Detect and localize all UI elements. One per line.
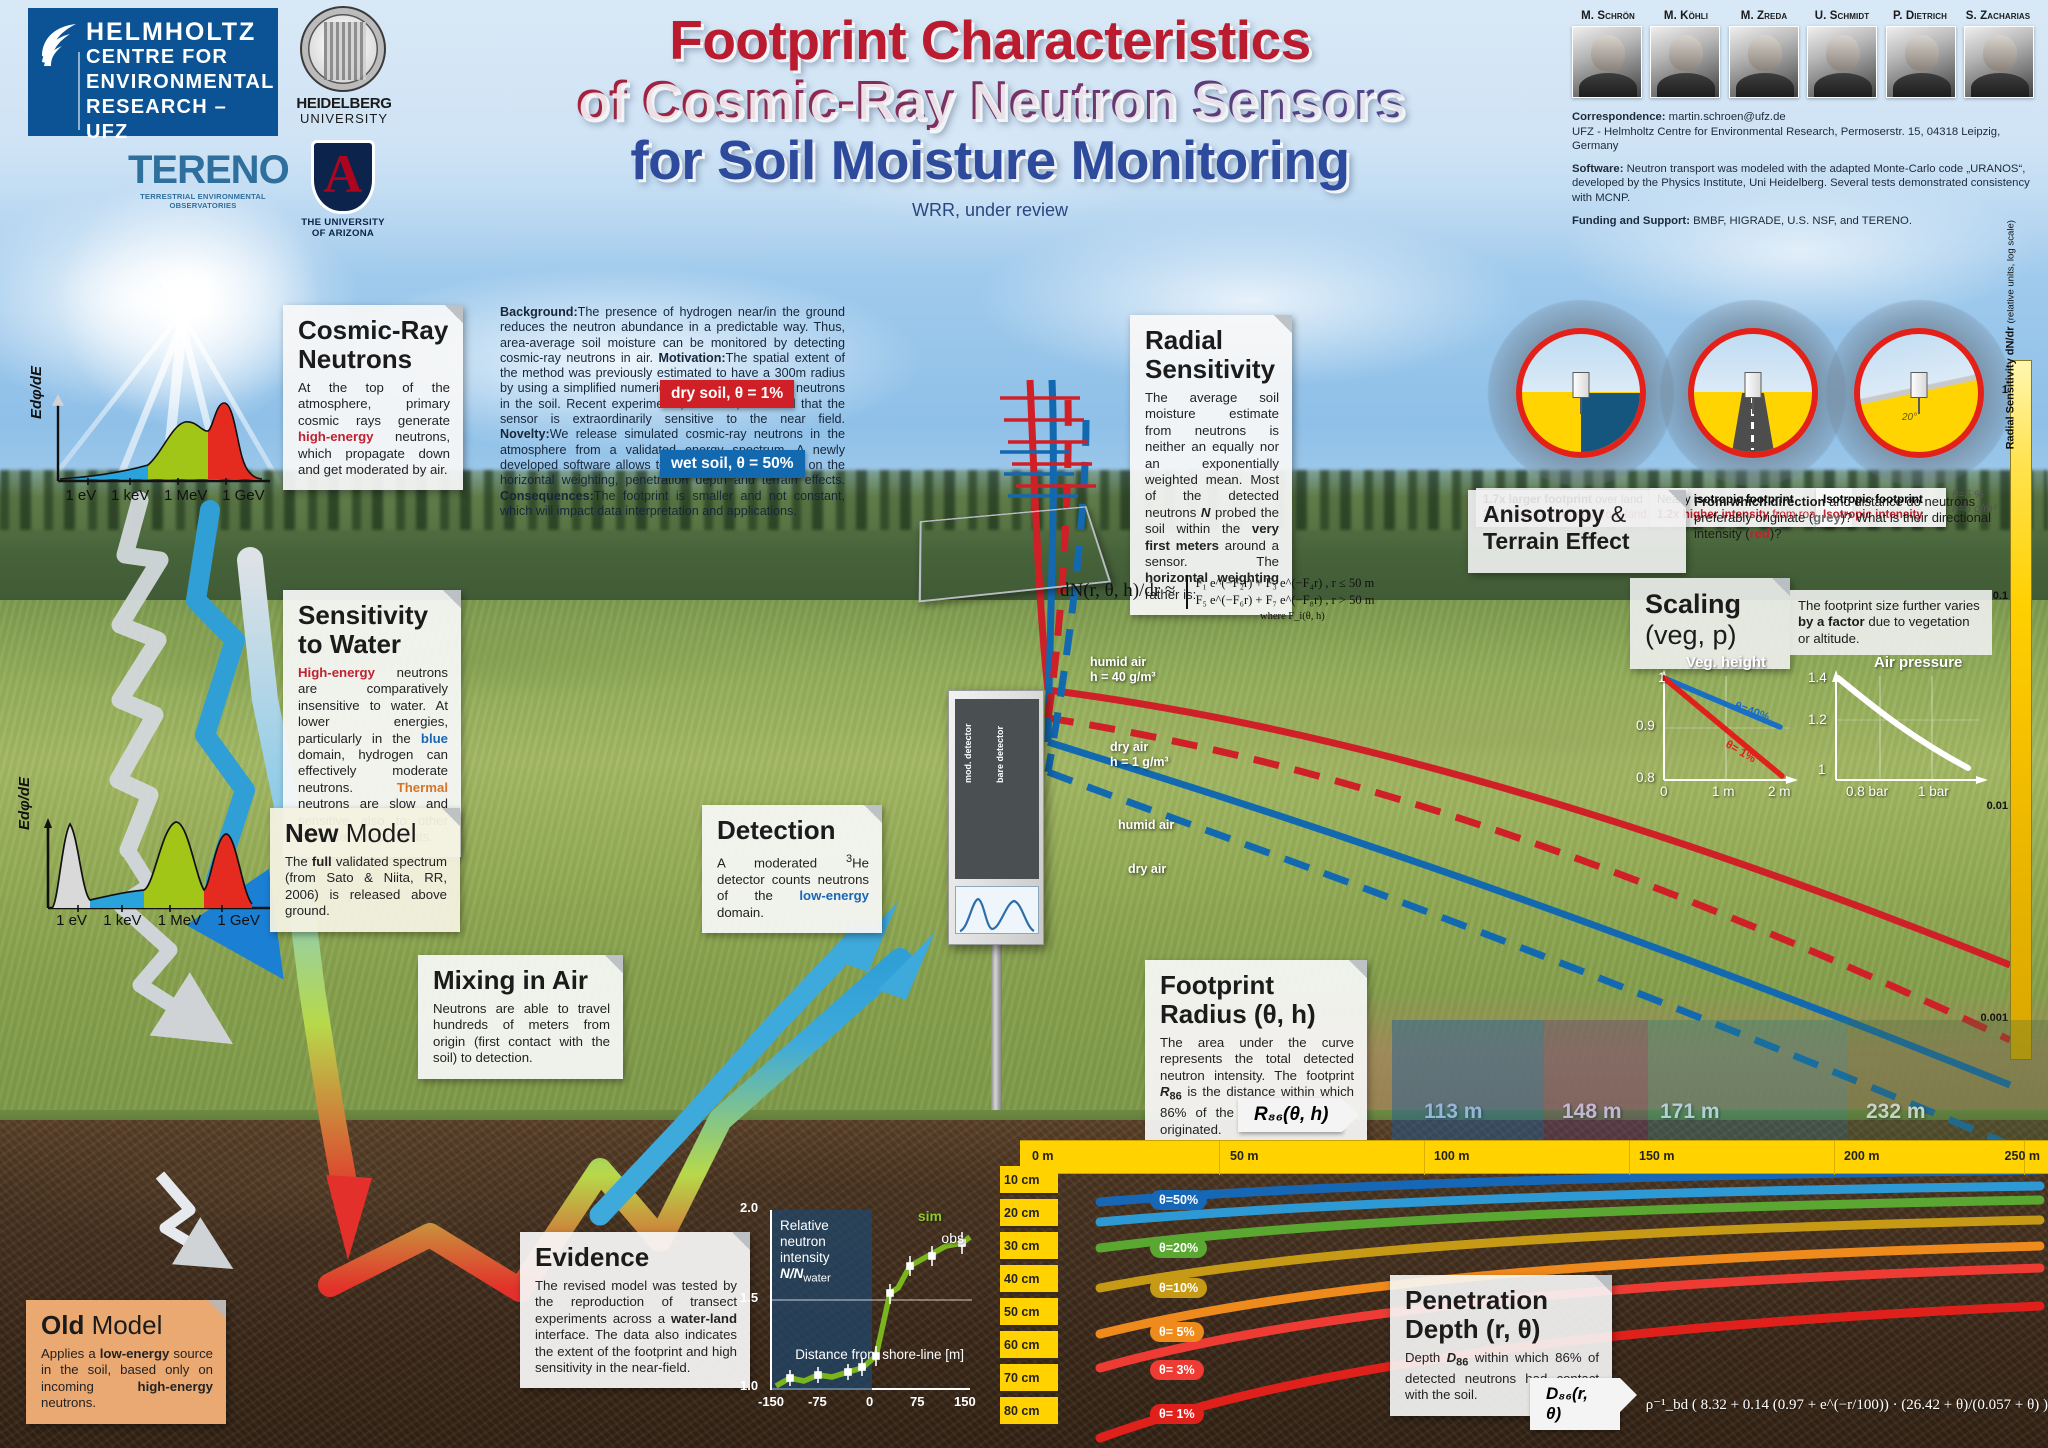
old-model-title: Old Model: [41, 1311, 213, 1340]
det-t3: domain.: [717, 905, 764, 920]
det-t1: A moderated: [717, 855, 846, 870]
om-b1: low-energy: [100, 1346, 170, 1361]
wet-soil-label-value: θ = 50%: [736, 455, 793, 472]
sensor-enclosure: mod. detector bare detector: [948, 690, 1044, 945]
arizona-shield-icon: [311, 140, 375, 214]
new-model-title-light: Model: [338, 818, 416, 848]
old-model-title-light: Model: [84, 1310, 162, 1340]
cbar-tick: 0.1: [1993, 590, 2008, 602]
evidence-xtick: -75: [808, 1394, 827, 1409]
scaling-title-2: (veg, p): [1645, 620, 1737, 650]
depth-formula-body: ρ⁻¹_bd ( 8.32 + 0.14 (0.97 + e^(−r/100))…: [1646, 1395, 2048, 1414]
depth-curve-label: θ= 1%: [1150, 1404, 1204, 1424]
tereno-logo: TERENO TERRESTRIAL ENVIRONMENTAL OBSERVA…: [128, 150, 278, 210]
sensor-probe-stem: [1752, 398, 1754, 414]
anisotropy-title-box: Anisotropy & Terrain Effect: [1468, 490, 1686, 573]
wet-soil-label-text: wet soil,: [671, 455, 732, 472]
pressure-xtick-1: 0.8 bar: [1846, 784, 1888, 799]
ev-b: water-land: [671, 1311, 737, 1326]
rad-em1: N: [1201, 505, 1211, 520]
mixing-in-air-box: Mixing in Air Neutrons are able to trave…: [418, 955, 623, 1079]
sens-hl-1: High-energy: [298, 665, 375, 680]
author-name-row: M. Schrön M. Köhli M. Zreda U. Schmidt P…: [1572, 10, 2034, 22]
aniso-q-6: )?: [1770, 526, 1782, 541]
radial-title-2: Sensitivity: [1145, 354, 1275, 384]
footprint-band-2: [1544, 1020, 1648, 1140]
software-text: Neutron transport was modeled with the a…: [1572, 163, 2030, 204]
radial-sensitivity-colorbar: [2010, 360, 2032, 1060]
evidence-transect-chart: RelativeneutronintensityN/Nwater Distanc…: [770, 1210, 970, 1390]
pd-em1: D: [1447, 1350, 1457, 1365]
depth-curve-label: θ= 3%: [1150, 1360, 1204, 1380]
arizona-logo: THE UNIVERSITY OF ARIZONA: [295, 140, 391, 239]
om-t3: neutrons.: [41, 1395, 96, 1410]
humid-air-label-2: humid air: [1118, 818, 1174, 833]
box-corner-fold: [442, 808, 460, 826]
colorbar-ticks: 1 0.1 0.01 0.001: [1948, 352, 2008, 1068]
distance-scale-bar: 0 m 50 m 100 m 150 m 200 m 250 m: [1020, 1140, 2048, 1174]
depth-ruler: 10 cm 20 cm 30 cm 40 cm 50 cm 60 cm 70 c…: [1000, 1174, 1058, 1448]
aniso-title-amp: &: [1604, 501, 1626, 527]
nm-b: full: [312, 854, 332, 869]
background-text-block: Background:The presence of hydrogen near…: [500, 305, 845, 519]
veg-xtick-3: 2 m: [1768, 784, 1791, 799]
scale-tick: 250 m: [2005, 1149, 2040, 1163]
spectrum-tick: 1 eV: [65, 487, 96, 504]
scale-divider: [1219, 1141, 1220, 1175]
fp-em1sub: 86: [1170, 1091, 1182, 1103]
radial-formula-lhs: dN(r, θ, h)/dr ≈: [1060, 580, 1175, 601]
fp-em1: R: [1160, 1084, 1170, 1099]
aniso-figure-1: [1488, 300, 1674, 486]
pressure-ytick-2: 1.2: [1808, 712, 1827, 727]
evidence-legend-obs: obs: [941, 1230, 964, 1246]
new-model-text: The full validated spectrum (from Sato &…: [285, 854, 447, 920]
sensor-label-moderator: mod. detector: [963, 723, 973, 783]
box-corner-fold: [864, 805, 882, 823]
pd-title-1: Penetration: [1405, 1285, 1548, 1315]
scale-tick: 150 m: [1639, 1149, 1674, 1163]
avatar: [1886, 26, 1956, 98]
author-name: S. Zacharias: [1962, 10, 2034, 22]
aniso-title-2: Terrain Effect: [1483, 528, 1630, 554]
veg-xtick-2: 1 m: [1712, 784, 1735, 799]
spectrum2-tick: 1 eV: [56, 912, 87, 929]
rad-t1: The average soil moisture estimate from …: [1145, 390, 1279, 520]
box-corner-fold: [1594, 1275, 1612, 1293]
pressure-ytick-3: 1: [1818, 762, 1826, 777]
avatar: [1807, 26, 1877, 98]
authors-block: M. Schrön M. Köhli M. Zreda U. Schmidt P…: [1572, 10, 2034, 236]
radial-box-title: Radial Sensitivity: [1145, 326, 1279, 384]
evidence-ytick: 1.0: [740, 1378, 758, 1393]
depth-curve-label: θ=20%: [1150, 1238, 1207, 1258]
spectrum-tick: 1 keV: [111, 487, 149, 504]
spectrum-x-ticks: 1 eV 1 keV 1 MeV 1 GeV: [58, 487, 272, 504]
author-name: M. Köhli: [1650, 10, 1722, 22]
avatar: [1650, 26, 1720, 98]
box-corner-fold: [1668, 490, 1686, 508]
radial-box-text: The average soil moisture estimate from …: [1145, 390, 1279, 603]
detection-box-text: A moderated 3He detector counts neutrons…: [717, 851, 869, 921]
depth-tick: 50 cm: [1000, 1298, 1058, 1327]
cbar-tick: 0.01: [1987, 800, 2008, 812]
funding-text: BMBF, HIGRADE, U.S. NSF, and TERENO.: [1693, 215, 1912, 227]
aniso-title-1: Anisotropy: [1483, 501, 1604, 527]
evidence-box: Evidence The revised model was tested by…: [520, 1232, 750, 1388]
evidence-box-text: The revised model was tested by the repr…: [535, 1278, 737, 1376]
spectrum2-curve: [18, 800, 278, 912]
sensor-label-bare: bare detector: [995, 726, 1005, 783]
aniso-q-red: red: [1750, 526, 1770, 541]
box-corner-fold: [443, 590, 461, 608]
scale-divider: [1834, 1141, 1835, 1175]
aniso-q-grey: grey: [1813, 510, 1840, 525]
software-line: Software: Neutron transport was modeled …: [1572, 162, 2034, 206]
depth-curve-label: θ= 5%: [1150, 1322, 1204, 1342]
pd-em1sub: 86: [1456, 1357, 1468, 1369]
arizona-text: THE UNIVERSITY OF ARIZONA: [295, 217, 391, 239]
old-model-title-bold: Old: [41, 1310, 84, 1340]
radial-formula-where: where F_i(θ, h): [1260, 611, 1530, 622]
spectrum-chart-new-model: Edφ/dE 1 eV 1 keV 1 MeV 1 GeV: [18, 800, 278, 930]
background-label: Background:: [500, 305, 578, 319]
evidence-legend-sim: sim: [918, 1208, 942, 1224]
footprint-band-1: [1392, 1020, 1544, 1140]
author-name: U. Schmidt: [1806, 10, 1878, 22]
depth-curve-label: θ=10%: [1150, 1278, 1207, 1298]
spectrum2-x-ticks: 1 eV 1 keV 1 MeV 1 GeV: [48, 912, 268, 929]
colorbar-axis-label: Radial Sensitivity dN/dr (relative units…: [2004, 220, 2016, 449]
arizona-line-1: THE UNIVERSITY: [295, 217, 391, 228]
scale-tick: 100 m: [1434, 1149, 1469, 1163]
tereno-subtitle: TERRESTRIAL ENVIRONMENTAL OBSERVATORIES: [128, 192, 278, 210]
ufz-line-4: RESEARCH – UFZ: [86, 95, 268, 145]
author-name: P. Dietrich: [1884, 10, 1956, 22]
box-corner-fold: [1349, 960, 1367, 978]
correspondence-label: Correspondence:: [1572, 111, 1666, 123]
spectrum-curve: [30, 395, 280, 485]
mixing-box-text: Neutrons are able to travel hundreds of …: [433, 1001, 610, 1067]
sensor-probe-icon: [1745, 372, 1762, 398]
fp-t1: The area under the curve represents the …: [1160, 1035, 1354, 1083]
penetration-box-title: Penetration Depth (r, θ): [1405, 1286, 1599, 1344]
avatar: [1964, 26, 2034, 98]
poster-title-block: Footprint Characteristics of Cosmic-Ray …: [420, 10, 1560, 221]
humid-air-label-1: humid air h = 40 g/m³: [1090, 655, 1156, 685]
heidelberg-seal-icon: [300, 6, 386, 92]
box-corner-fold: [208, 1300, 226, 1318]
depth-tick: 40 cm: [1000, 1265, 1058, 1294]
footprint-radius-tag: R₈₆(θ, h): [1238, 1098, 1342, 1132]
helmholtz-swoosh-icon: [38, 22, 80, 66]
heidelberg-line-2: UNIVERSITY: [288, 111, 400, 126]
dry-air-value: h = 1 g/m³: [1110, 755, 1169, 769]
sensor-display: [955, 886, 1039, 934]
fp-title-2: Radius (θ, h): [1160, 999, 1316, 1029]
pressure-xtick-2: 1 bar: [1918, 784, 1949, 799]
affiliation: UFZ - Helmholtz Centre for Environmental…: [1572, 126, 2000, 153]
new-model-box: New Model The full validated spectrum (f…: [270, 808, 460, 932]
spectrum-chart-top-atmosphere: Edφ/dE 1 eV 1 keV 1 MeV 1 GeV: [30, 395, 280, 505]
det-hl: low-energy: [799, 888, 869, 903]
title-line-1: Footprint Characteristics: [420, 10, 1560, 70]
funding-line: Funding and Support: BMBF, HIGRADE, U.S.…: [1572, 214, 2034, 229]
scale-tick: 0 m: [1032, 1149, 1054, 1163]
novelty-label: Novelty:: [500, 427, 550, 441]
humid-air-value: h = 40 g/m³: [1090, 670, 1156, 684]
correspondence-block: Correspondence: martin.schroen@ufz.de UF…: [1572, 110, 2034, 228]
depth-tick: 80 cm: [1000, 1397, 1058, 1426]
sensor-display-spectrum: [956, 887, 1040, 935]
evidence-xtick: 75: [910, 1394, 924, 1409]
box-corner-fold: [445, 305, 463, 323]
veg-chart-title: Veg. height: [1686, 654, 1766, 671]
title-line-2: of Cosmic-Ray Neutron Sensors: [420, 70, 1560, 130]
veg-ytick-1: 1: [1658, 670, 1666, 685]
footprint-band-3: [1648, 1020, 1848, 1140]
sensor-probe-icon: [1911, 372, 1928, 398]
nm-t1: The: [285, 854, 312, 869]
veg-height-chart: Veg. height 1 0.9 0.8 0 1 m 2 m θ=40% θ=…: [1640, 658, 1800, 808]
author-name: M. Zreda: [1728, 10, 1800, 22]
author-name: M. Schrön: [1572, 10, 1644, 22]
colorbar-label-main: Radial Sensitivity dN/dr: [2004, 327, 2016, 450]
ufz-line-3: ENVIRONMENTAL: [86, 70, 268, 95]
sensitivity-box-title: Sensitivity to Water: [298, 601, 448, 659]
depth-curve-label: θ=50%: [1150, 1190, 1207, 1210]
sensor-probe-stem: [1580, 398, 1582, 414]
box-corner-fold: [605, 955, 623, 973]
new-model-title: New Model: [285, 819, 447, 848]
depth-tick: 70 cm: [1000, 1364, 1058, 1393]
software-label: Software:: [1572, 163, 1623, 175]
spectrum-y-axis-label: Edφ/dE: [28, 366, 45, 419]
evidence-box-title: Evidence: [535, 1243, 737, 1272]
depth-tick: 30 cm: [1000, 1232, 1058, 1261]
cosmic-box-title: Cosmic-Ray Neutrons: [298, 316, 450, 374]
veg-ytick-2: 0.9: [1636, 718, 1655, 733]
radial-formula-case-2: F₅ e^(−F₆r) + F₇ e^(−F₈r) , r > 50 m: [1196, 593, 1375, 607]
om-t1: Applies a: [41, 1346, 100, 1361]
motivation-label: Motivation:: [658, 351, 725, 365]
dry-soil-label-value: θ = 1%: [735, 385, 783, 402]
dry-soil-label-text: dry soil,: [671, 385, 730, 402]
aniso-figure-2: [1660, 300, 1846, 486]
spectrum2-tick: 1 MeV: [158, 912, 201, 929]
radial-formula: dN(r, θ, h)/dr ≈ F₁ e^(−F₂r) + F₃ e^(−F₄…: [1060, 575, 1530, 622]
depth-formula-tag: D₈₆(r, θ): [1530, 1378, 1620, 1430]
box-corner-fold: [732, 1232, 750, 1250]
correspondence-email[interactable]: martin.schroen@ufz.de: [1669, 111, 1786, 123]
aniso-box-title: Anisotropy & Terrain Effect: [1483, 501, 1673, 555]
humid-air-text: humid air: [1090, 655, 1146, 669]
radial-title-1: Radial: [1145, 325, 1223, 355]
dry-air-label-1: dry air h = 1 g/m³: [1110, 740, 1169, 770]
evidence-ytick: 2.0: [740, 1200, 758, 1215]
new-model-title-bold: New: [285, 818, 338, 848]
spectrum2-tick: 1 GeV: [217, 912, 260, 929]
detection-box-title: Detection: [717, 816, 869, 845]
ufz-line-1: HELMHOLTZ: [86, 20, 268, 45]
sens-hl-3: Thermal: [397, 780, 448, 795]
ufz-line-2: CENTRE FOR: [86, 45, 268, 70]
spectrum-tick: 1 MeV: [164, 487, 207, 504]
spectrum2-y-axis-label: Edφ/dE: [16, 777, 33, 830]
sens-hl-2: blue: [421, 731, 448, 746]
box-corner-fold: [1772, 578, 1790, 596]
cosmic-ray-neutrons-box: Cosmic-Ray Neutrons At the top of the at…: [283, 305, 463, 490]
ev-t2: interface. The data also indicates the e…: [535, 1327, 737, 1375]
heidelberg-line-1: HEIDELBERG: [288, 96, 400, 111]
evidence-xtick: 150: [954, 1394, 976, 1409]
dry-soil-label: dry soil, θ = 1%: [660, 380, 794, 408]
scale-tick: 200 m: [1844, 1149, 1879, 1163]
old-model-box: Old Model Applies a low-energy source in…: [26, 1300, 226, 1424]
radial-formula-case-1: F₁ e^(−F₂r) + F₃ e^(−F₄r) , r ≤ 50 m: [1196, 576, 1375, 590]
scaling-title-1: Scaling: [1645, 589, 1741, 619]
pressure-ytick-1: 1.4: [1808, 670, 1827, 685]
footprint-circle-1: [1516, 328, 1646, 458]
footprint-radius-bar: R₈₆(θ, h): [1238, 1092, 1342, 1138]
veg-xtick-1: 0: [1660, 784, 1668, 799]
evidence-xtick: 0: [866, 1394, 873, 1409]
sensor-probe-stem: [1918, 398, 1920, 414]
slope-angle-label: 20°: [1902, 412, 1917, 423]
poster-subtitle: WRR, under review: [420, 200, 1560, 221]
poster-root: HELMHOLTZ CENTRE FOR ENVIRONMENTAL RESEA…: [0, 0, 2048, 1448]
mixing-box-title: Mixing in Air: [433, 966, 610, 995]
depth-tick: 60 cm: [1000, 1331, 1058, 1360]
arizona-line-2: OF ARIZONA: [295, 228, 391, 239]
spectrum-tick: 1 GeV: [222, 487, 265, 504]
scale-divider: [1424, 1141, 1425, 1175]
avatar: [1729, 26, 1799, 98]
veg-ytick-3: 0.8: [1636, 770, 1655, 785]
land-quadrant: [1581, 393, 1640, 452]
pd-t1: Depth: [1405, 1350, 1447, 1365]
dry-air-text: dry air: [1110, 740, 1148, 754]
title-line-3: for Soil Moisture Monitoring: [420, 130, 1560, 190]
depth-tick: 20 cm: [1000, 1199, 1058, 1228]
old-model-text: Applies a low-energy source in the soil,…: [41, 1346, 213, 1412]
depth-tick: 10 cm: [1000, 1166, 1058, 1195]
scaling-t2: by a factor: [1798, 614, 1865, 629]
detection-box: Detection A moderated 3He detector count…: [702, 805, 882, 933]
heidelberg-logo: HEIDELBERG UNIVERSITY: [288, 96, 400, 126]
cosmic-highlight: high-energy: [298, 429, 373, 444]
cosmic-box-text: At the top of the atmosphere, primary co…: [298, 380, 450, 478]
cosmic-text-1: At the top of the atmosphere, primary co…: [298, 380, 450, 428]
footprint-band-4: [1848, 1020, 2048, 1140]
scale-tick: 50 m: [1230, 1149, 1259, 1163]
depth-formula-row: D₈₆(r, θ) ρ⁻¹_bd ( 8.32 + 0.14 (0.97 + e…: [1530, 1378, 2048, 1430]
ufz-logo: HELMHOLTZ CENTRE FOR ENVIRONMENTAL RESEA…: [28, 8, 278, 136]
colorbar-label-sub: (relative units, log scale): [2005, 220, 2016, 323]
funding-label: Funding and Support:: [1572, 215, 1690, 227]
consequences-label: Consequences:: [500, 489, 594, 503]
fp-title-1: Footprint: [1160, 970, 1274, 1000]
wet-soil-label: wet soil, θ = 50%: [660, 450, 805, 478]
logo-divider: [78, 52, 80, 130]
evidence-xtick: -150: [758, 1394, 784, 1409]
scaling-box-title: Scaling (veg, p): [1645, 589, 1777, 651]
aniso-q-1: From which direction: [1694, 494, 1825, 509]
spectrum2-tick: 1 keV: [103, 912, 141, 929]
footprint-box-title: Footprint Radius (θ, h): [1160, 971, 1354, 1029]
tereno-wordmark: TERENO: [128, 150, 278, 190]
om-b2: high-energy: [138, 1379, 213, 1394]
scale-divider: [1629, 1141, 1630, 1175]
box-corner-fold: [1274, 315, 1292, 333]
correspondence-line: Correspondence: martin.schroen@ufz.de UF…: [1572, 110, 2034, 154]
sensor-pole: [991, 930, 1002, 1110]
footprint-circle-2: [1688, 328, 1818, 458]
author-photo-row: [1572, 26, 2034, 98]
sensor-probe-icon: [1573, 372, 1590, 398]
pd-title-2: Depth (r, θ): [1405, 1314, 1540, 1344]
radial-sensitivity-box: Radial Sensitivity The average soil mois…: [1130, 315, 1292, 615]
avatar: [1572, 26, 1642, 98]
dry-air-label-2: dry air: [1128, 862, 1166, 877]
evidence-ytick: 1.5: [740, 1290, 758, 1305]
